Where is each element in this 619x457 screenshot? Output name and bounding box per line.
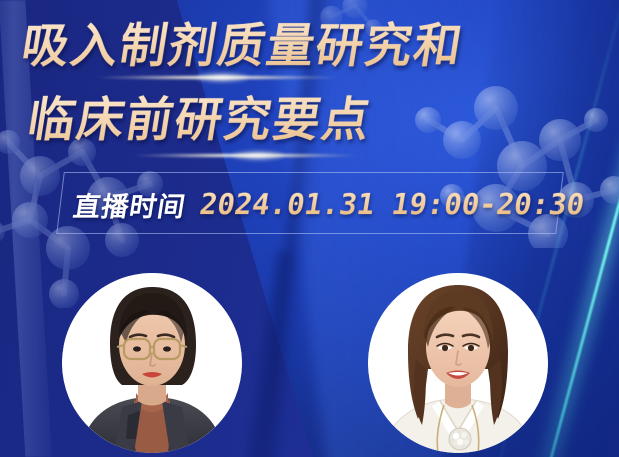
title-line-2: 临床前研究要点 bbox=[23, 90, 587, 152]
avatar bbox=[62, 273, 242, 453]
schedule-label: 直播时间 bbox=[71, 185, 189, 224]
schedule-content: 直播时间 2024.01.31 19:00-20:30 bbox=[71, 182, 588, 226]
schedule-datetime: 2024.01.31 19:00-20:30 bbox=[197, 187, 586, 221]
title-line-1: 吸入制剂质量研究和 bbox=[17, 16, 587, 78]
poster-title: 吸入制剂质量研究和 临床前研究要点 bbox=[22, 16, 582, 152]
webinar-poster: 吸入制剂质量研究和 临床前研究要点 直播时间 2024.01.31 19:00-… bbox=[0, 0, 619, 457]
flare-icon bbox=[196, 73, 248, 82]
flare-icon bbox=[232, 151, 284, 160]
avatar bbox=[368, 273, 548, 453]
